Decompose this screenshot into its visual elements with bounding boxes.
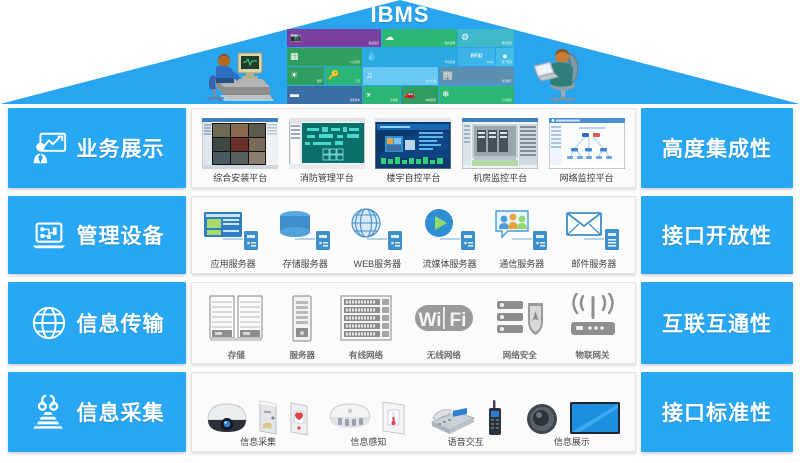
feature-badge-interconnection[interactable]: 互联互通性 bbox=[641, 282, 793, 364]
car-icon: 🚗 bbox=[404, 90, 415, 99]
globe-wire-server-icon bbox=[346, 201, 408, 260]
roof-tile-fan-leaf[interactable]: ❄空调通风 bbox=[439, 86, 514, 104]
roof-tile-cloud[interactable]: ☁能耗监测 bbox=[382, 29, 457, 47]
people-chat-server-icon bbox=[491, 201, 553, 260]
item-caption: 综合安装平台 bbox=[213, 174, 267, 185]
item-caption: 流媒体服务器 bbox=[423, 260, 477, 271]
cctv-camera-icon: 📷 bbox=[290, 33, 301, 42]
cloud-icon: ☁ bbox=[385, 33, 394, 42]
dome-camera-door-contact-emergency-button bbox=[205, 377, 311, 438]
roof-tile-label: 公共广播 bbox=[426, 81, 436, 84]
roof-section: IBMS bbox=[0, 0, 800, 104]
item-caption: 有线网络 bbox=[349, 351, 383, 361]
feature-label: 互联互通性 bbox=[662, 308, 772, 338]
sidebar-item-business-display[interactable]: 业务展示 bbox=[8, 108, 186, 188]
item-iot-gateway[interactable]: 物联网关 bbox=[565, 287, 621, 361]
item-wired-network[interactable]: 有线网络 bbox=[338, 287, 394, 361]
roof-tile-music-note[interactable]: ♫公共广播 bbox=[363, 67, 438, 85]
item-communication-server[interactable]: 通信服务器 bbox=[491, 201, 553, 271]
item-wireless-network[interactable]: Wi Fi 无线网络 bbox=[413, 287, 475, 361]
item-server[interactable]: 服务器 bbox=[285, 287, 319, 361]
roof-tile-rfid[interactable]: RFIDRFID bbox=[458, 48, 495, 66]
item-caption: 物联网关 bbox=[576, 351, 610, 361]
feature-badge-interface-standard[interactable]: 接口标准性 bbox=[641, 372, 793, 452]
faucet-icon: ⚹ bbox=[366, 90, 371, 99]
person-with-laptop-icon bbox=[528, 42, 600, 104]
roof-tile-cctv-camera[interactable]: 📷视频监控 bbox=[287, 29, 381, 47]
speaker-display-screen bbox=[522, 377, 622, 438]
sidebar-label-business-display: 业务展示 bbox=[77, 133, 165, 163]
item-caption: 消防管理平台 bbox=[300, 174, 354, 185]
roof-tile-label: 环境监测 bbox=[445, 62, 455, 65]
roof-tile-faucet[interactable]: ⚹给排水 bbox=[363, 86, 400, 104]
content-panel-information-transmission: 存储 服务器 bbox=[191, 282, 636, 364]
item-application-server[interactable]: 应用服务器 bbox=[202, 201, 264, 271]
item-caption: 信息感知 bbox=[350, 438, 386, 449]
item-web-server[interactable]: WEB服务器 bbox=[346, 201, 408, 271]
key-icon: 🔑 bbox=[328, 71, 339, 80]
roof-tile-label: 视频监控 bbox=[369, 43, 379, 46]
roof-tile-label: 车辆管理 bbox=[426, 100, 436, 103]
rfid-icon: RFID bbox=[471, 54, 483, 59]
roof-tile-water-drop[interactable]: 💧环境监测 bbox=[363, 48, 457, 66]
roof-tile-mosaic: 📷视频监控☁能耗监测⚙能源管理▦人员管理💧环境监测RFIDRFID●资产管理☀照… bbox=[287, 29, 514, 104]
badge-icon: ● bbox=[502, 52, 507, 61]
item-network-security[interactable]: 网络安全 bbox=[494, 287, 546, 361]
sidebar-item-management-devices[interactable]: 管理设备 bbox=[8, 196, 186, 274]
roof-tile-car[interactable]: 🚗车辆管理 bbox=[401, 86, 438, 104]
presentation-person-icon bbox=[30, 129, 68, 167]
grid-table-icon: ▦ bbox=[290, 52, 299, 61]
item-fire-platform[interactable]: 消防管理平台 bbox=[289, 113, 365, 185]
lamp-icon: ☀ bbox=[290, 71, 298, 80]
roof-tile-gear[interactable]: ⚙能源管理 bbox=[458, 29, 514, 47]
sidebar-label-management-devices: 管理设备 bbox=[77, 220, 165, 250]
database-cylinder-server-icon bbox=[274, 201, 336, 260]
roof-tile-lamp[interactable]: ☀照明 bbox=[287, 67, 324, 85]
svg-text:Fi: Fi bbox=[449, 310, 466, 331]
roof-tile-label: 照明 bbox=[317, 81, 322, 84]
roof-tile-building[interactable]: 🏢智慧楼宇 bbox=[439, 67, 514, 85]
roof-tile-label: 门禁 bbox=[355, 81, 360, 84]
item-storage[interactable]: 存储 bbox=[206, 287, 266, 361]
feature-badge-open-interface[interactable]: 接口开放性 bbox=[641, 196, 793, 274]
datacenter-screenshot bbox=[462, 113, 538, 174]
item-caption: 网络监控平台 bbox=[560, 174, 614, 185]
gear-icon: ⚙ bbox=[461, 33, 469, 42]
content-panel-business-display: 综合安装平台 bbox=[191, 108, 636, 188]
item-caption: 邮件服务器 bbox=[571, 260, 616, 271]
roof-tile-label: 资产管理 bbox=[502, 62, 512, 65]
play-button-server-icon bbox=[419, 201, 481, 260]
page-title: IBMS bbox=[0, 2, 800, 28]
ibms-architecture-diagram: IBMS bbox=[0, 0, 800, 463]
item-caption: 存储 bbox=[228, 351, 245, 361]
content-panel-management-devices: 应用服务器 存储服务器 bbox=[191, 196, 636, 274]
network-topology-screenshot bbox=[549, 113, 625, 174]
item-integrated-platform[interactable]: 综合安装平台 bbox=[202, 113, 278, 185]
fire-panel-screenshot bbox=[289, 113, 365, 174]
building-icon: 🏢 bbox=[442, 71, 453, 80]
network-cabinet-icon bbox=[338, 287, 394, 351]
sidebar-label-information-transmission: 信息传输 bbox=[77, 308, 165, 338]
feature-label: 接口开放性 bbox=[662, 220, 772, 250]
cctv-multiview-screenshot bbox=[202, 113, 278, 174]
smoke-detector-thermostat-panel bbox=[327, 377, 409, 438]
item-information-collection-devices[interactable]: 信息采集 bbox=[205, 377, 311, 449]
server-shield-icon bbox=[494, 287, 546, 351]
layer-row-information-transmission: 信息传输 bbox=[0, 282, 800, 364]
globe-grid-icon bbox=[30, 304, 68, 342]
item-caption: 应用服务器 bbox=[211, 260, 256, 271]
content-panel-information-collection: 信息采集 bbox=[191, 372, 636, 452]
item-caption: 语音交互 bbox=[448, 438, 484, 449]
desk-phone-walkie-talkie bbox=[426, 377, 506, 438]
roof-tile-key[interactable]: 🔑门禁 bbox=[325, 67, 362, 85]
feature-label: 接口标准性 bbox=[662, 397, 772, 427]
envelope-server-icon bbox=[563, 201, 625, 260]
feature-label: 高度集成性 bbox=[662, 133, 772, 163]
bas-hvac-screenshot bbox=[375, 113, 451, 174]
item-caption: 信息展示 bbox=[554, 438, 590, 449]
item-caption: 信息采集 bbox=[240, 438, 276, 449]
item-caption: 机房监控平台 bbox=[473, 174, 527, 185]
layer-row-information-collection: 信息采集 bbox=[0, 372, 800, 452]
item-mail-server[interactable]: 邮件服务器 bbox=[563, 201, 625, 271]
svg-text:Wi: Wi bbox=[418, 310, 441, 331]
app-window-server-icon bbox=[202, 201, 264, 260]
wireless-gateway-icon bbox=[565, 287, 621, 351]
roof-tile-label: 人员管理 bbox=[350, 62, 360, 65]
sidebar-item-information-transmission[interactable]: 信息传输 bbox=[8, 282, 186, 364]
sidebar-item-information-collection[interactable]: 信息采集 bbox=[8, 372, 186, 452]
item-caption: 网络安全 bbox=[503, 351, 537, 361]
parking-sensor-icon: ▬ bbox=[290, 90, 299, 99]
item-network-platform[interactable]: 网络监控平台 bbox=[549, 113, 625, 185]
person-at-desktop-computer-icon bbox=[196, 45, 276, 103]
item-information-display-devices[interactable]: 信息展示 bbox=[522, 377, 622, 449]
water-drop-icon: 💧 bbox=[366, 52, 377, 61]
item-storage-server[interactable]: 存储服务器 bbox=[274, 201, 336, 271]
music-note-icon: ♫ bbox=[366, 71, 373, 80]
roof-tile-label: 能耗监测 bbox=[445, 43, 455, 46]
roof-tile-label: 能源管理 bbox=[502, 43, 512, 46]
roof-tile-label: 智慧楼宇 bbox=[502, 81, 512, 84]
item-caption: 服务器 bbox=[289, 351, 315, 361]
feature-badge-high-integration[interactable]: 高度集成性 bbox=[641, 108, 793, 188]
item-caption: 无线网络 bbox=[427, 351, 461, 361]
item-caption: 通信服务器 bbox=[499, 260, 544, 271]
wifi-logo-icon: Wi Fi bbox=[413, 287, 475, 351]
fan-leaf-icon: ❄ bbox=[442, 90, 450, 99]
item-caption: WEB服务器 bbox=[354, 260, 402, 271]
roof-tile-label: 智能停车 bbox=[350, 100, 360, 103]
roof-tile-label: 给排水 bbox=[390, 100, 398, 103]
roof-tile-badge[interactable]: ●资产管理 bbox=[496, 48, 514, 66]
layer-row-business-display: 业务展示 bbox=[0, 108, 800, 188]
laptop-network-icon bbox=[30, 216, 68, 254]
item-datacenter-platform[interactable]: 机房监控平台 bbox=[462, 113, 538, 185]
item-caption: 楼宇自控平台 bbox=[386, 174, 440, 185]
item-bas-platform[interactable]: 楼宇自控平台 bbox=[375, 113, 451, 185]
storage-rack-pair-icon bbox=[206, 287, 266, 351]
item-caption: 存储服务器 bbox=[283, 260, 328, 271]
item-streaming-server[interactable]: 流媒体服务器 bbox=[419, 201, 481, 271]
item-information-sensing-devices[interactable]: 信息感知 bbox=[327, 377, 409, 449]
sidebar-label-information-collection: 信息采集 bbox=[77, 397, 165, 427]
tower-server-icon bbox=[285, 287, 319, 351]
item-voice-interaction-devices[interactable]: 语音交互 bbox=[426, 377, 506, 449]
roof-tile-grid-table[interactable]: ▦人员管理 bbox=[287, 48, 362, 66]
roof-tile-label: 空调通风 bbox=[502, 100, 512, 103]
roof-tile-label: RFID bbox=[487, 62, 493, 65]
layer-row-management-devices: 管理设备 bbox=[0, 196, 800, 274]
sensor-antenna-icon bbox=[30, 393, 68, 431]
roof-tile-parking-sensor[interactable]: ▬智能停车 bbox=[287, 86, 362, 104]
